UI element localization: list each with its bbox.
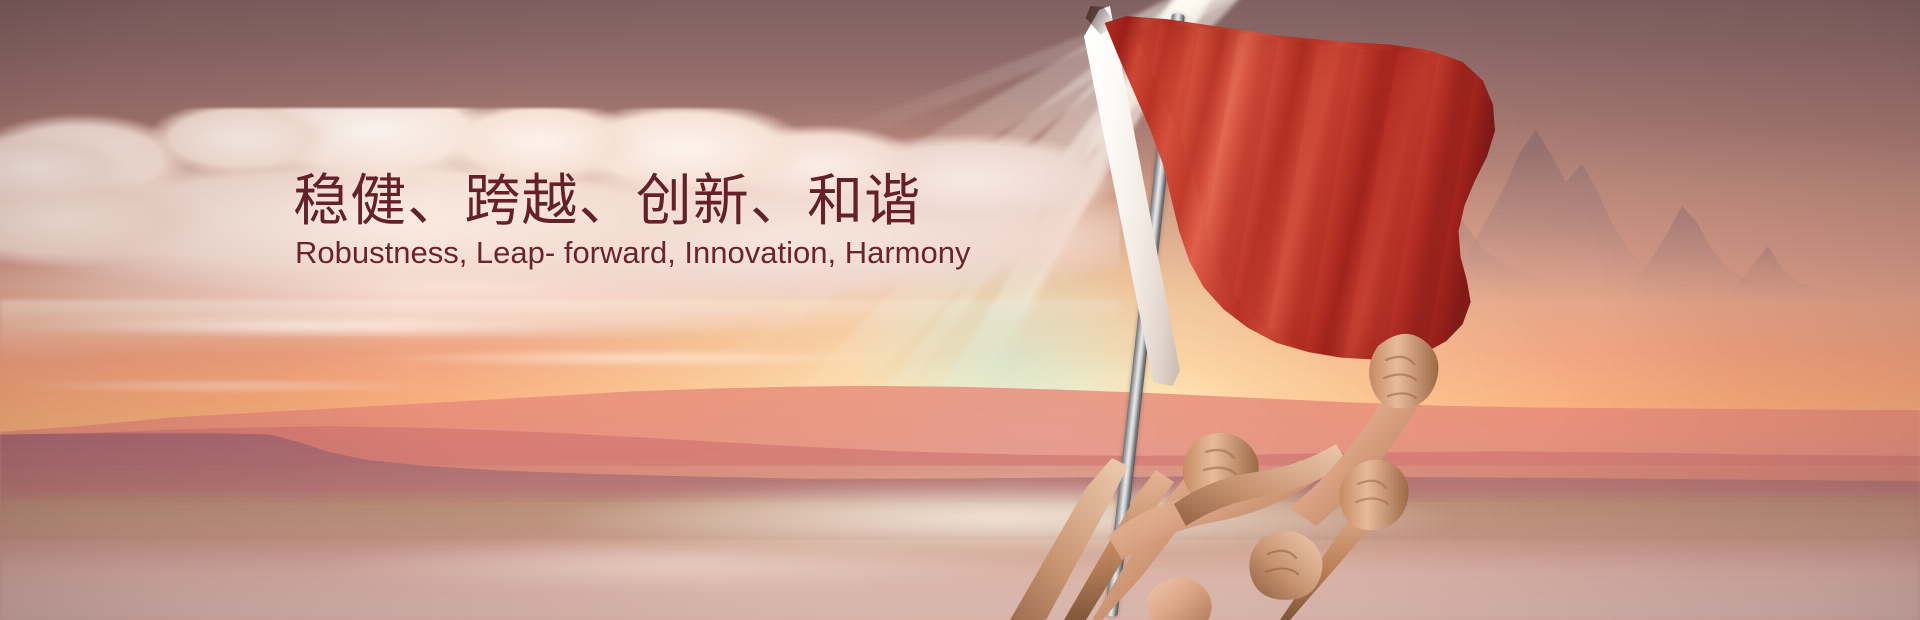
hero-banner: 稳健、跨越、创新、和谐 Robustness, Leap- forward, I… (0, 0, 1920, 620)
clasped-hands (960, 290, 1480, 620)
banner-text: 稳健、跨越、创新、和谐 Robustness, Leap- forward, I… (293, 172, 993, 271)
wispy-clouds (0, 300, 1120, 420)
page-subtitle: Robustness, Leap- forward, Innovation, H… (295, 236, 993, 271)
page-title: 稳健、跨越、创新、和谐 (293, 172, 993, 230)
cumulus-clouds-left (0, 128, 310, 308)
